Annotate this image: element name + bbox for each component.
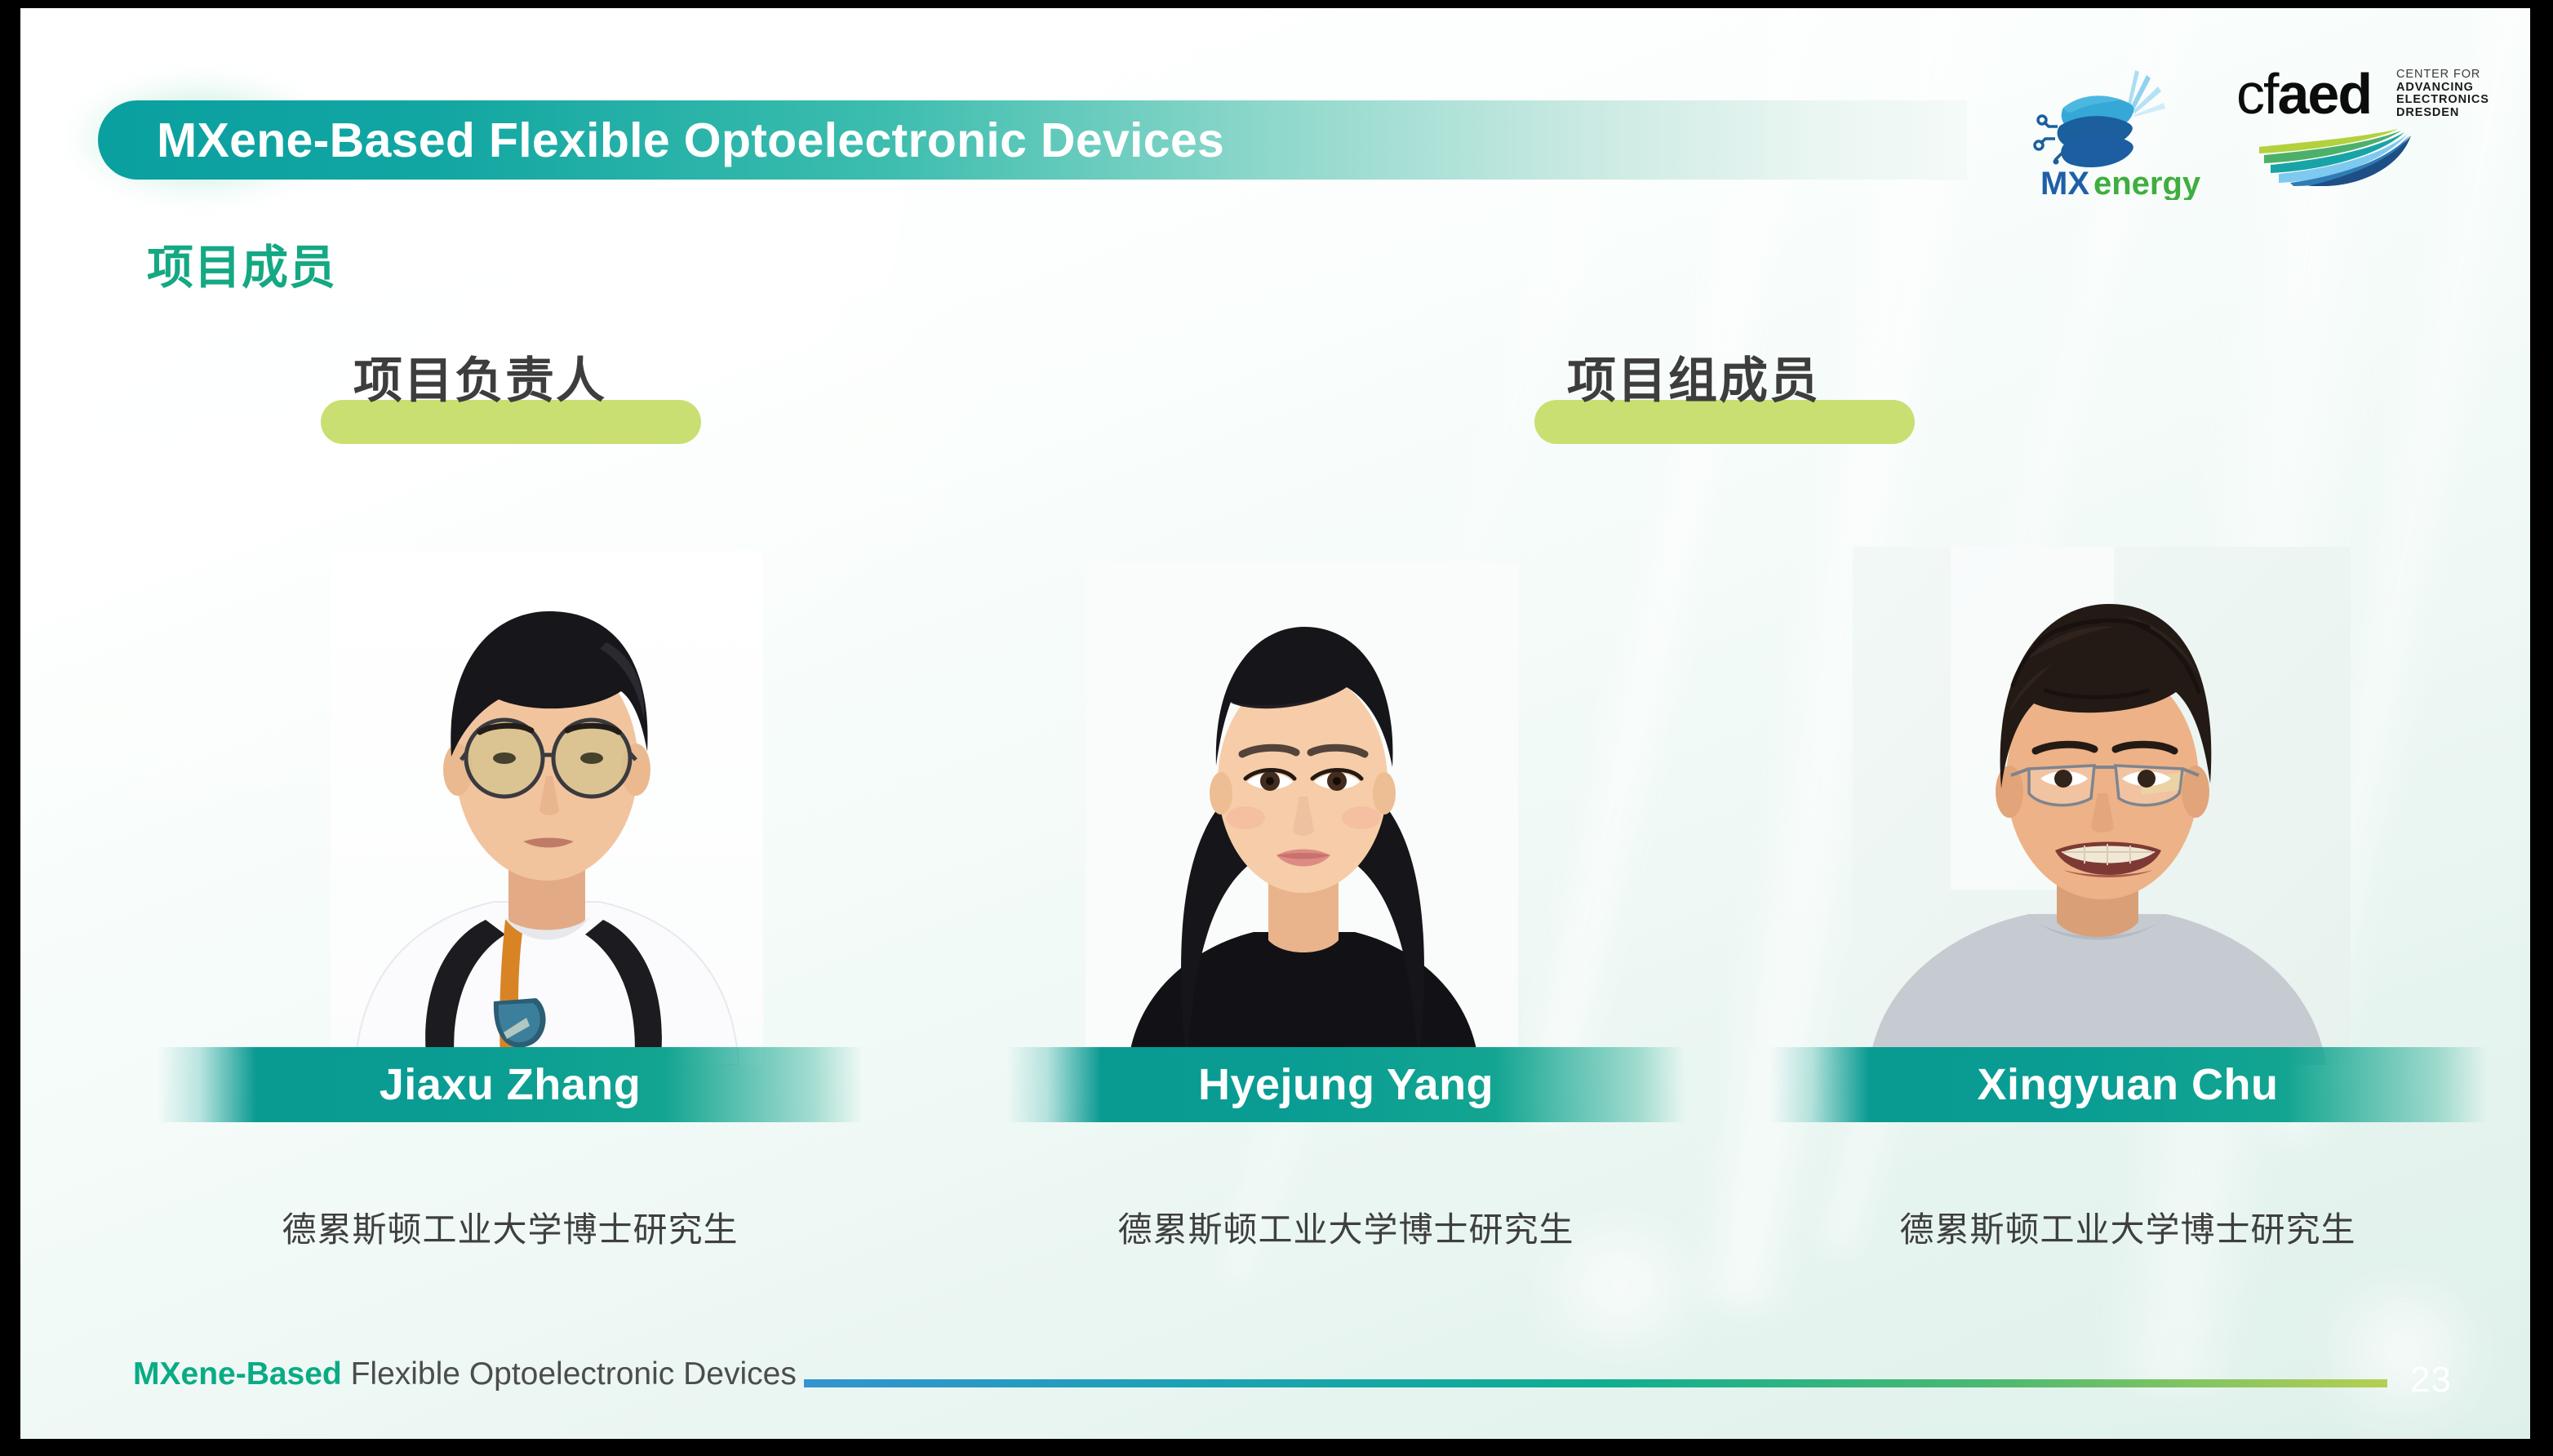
person-name-banner: Xingyuan Chu xyxy=(1769,1047,2487,1122)
role-badge-lead: 项目负责人 xyxy=(321,341,606,412)
person-affiliation: 德累斯顿工业大学博士研究生 xyxy=(1006,1202,1685,1252)
cfaed-subtitle-line2: ADVANCING xyxy=(2396,82,2489,95)
slide-title: MXene-Based Flexible Optoelectronic Devi… xyxy=(157,113,1224,168)
person-name: Xingyuan Chu xyxy=(1978,1059,2279,1110)
cfaed-subtitle-line1: CENTER FOR xyxy=(2396,69,2489,82)
portrait-image xyxy=(331,551,763,1065)
mxenergy-wordmark-mx: MX xyxy=(2040,166,2089,200)
portrait-image xyxy=(1086,563,1518,1065)
person-name: Hyejung Yang xyxy=(1198,1059,1494,1110)
cfaed-subtitle-line3: ELECTRONICS xyxy=(2396,94,2489,107)
portrait-jiaxu-zhang xyxy=(331,551,763,1065)
mxenergy-wordmark-energy: energy xyxy=(2093,166,2201,200)
person-affiliation: 德累斯顿工业大学博士研究生 xyxy=(1769,1202,2487,1252)
role-label-members: 项目组成员 xyxy=(1534,341,1820,412)
cfaed-swoosh-icon xyxy=(2258,129,2413,186)
portrait-xingyuan-chu xyxy=(1853,547,2351,1065)
cfaed-word-thin: cf xyxy=(2236,62,2277,126)
slide-title-bar: MXene-Based Flexible Optoelectronic Devi… xyxy=(98,100,1967,180)
cfaed-subtitle-line4: DRESDEN xyxy=(2396,107,2489,120)
person-name-banner: Hyejung Yang xyxy=(1006,1047,1685,1122)
footer-rule xyxy=(804,1379,2387,1387)
role-label-lead: 项目负责人 xyxy=(321,341,606,412)
mxenergy-mark-icon: MX energy xyxy=(2031,57,2206,200)
portrait-hyejung-yang xyxy=(1086,563,1518,1065)
section-heading: 项目成员 xyxy=(147,230,336,297)
slide-canvas: MXene-Based Flexible Optoelectronic Devi… xyxy=(20,8,2530,1439)
person-name-banner: Jiaxu Zhang xyxy=(158,1047,863,1122)
mxenergy-logo: MX energy xyxy=(2031,57,2206,200)
footer-brand-light: Flexible Optoelectronic Devices xyxy=(351,1356,797,1392)
footer-brand: MXene-Based Flexible Optoelectronic Devi… xyxy=(133,1356,797,1392)
page-number: 23 xyxy=(2410,1360,2452,1401)
cfaed-wordmark: cfaed xyxy=(2236,65,2371,122)
person-name: Jiaxu Zhang xyxy=(380,1059,642,1110)
cfaed-logo: cfaed CENTER FOR ADVANCING ELECTRONICS D… xyxy=(2236,59,2506,181)
role-badge-members: 项目组成员 xyxy=(1534,341,1820,412)
person-affiliation: 德累斯顿工业大学博士研究生 xyxy=(158,1202,863,1252)
background-blob xyxy=(2298,1281,2510,1420)
portrait-image xyxy=(1853,547,2351,1065)
footer-brand-strong: MXene-Based xyxy=(133,1356,342,1392)
cfaed-word-bold: aed xyxy=(2277,62,2371,126)
cfaed-subtitle: CENTER FOR ADVANCING ELECTRONICS DRESDEN xyxy=(2396,69,2489,119)
